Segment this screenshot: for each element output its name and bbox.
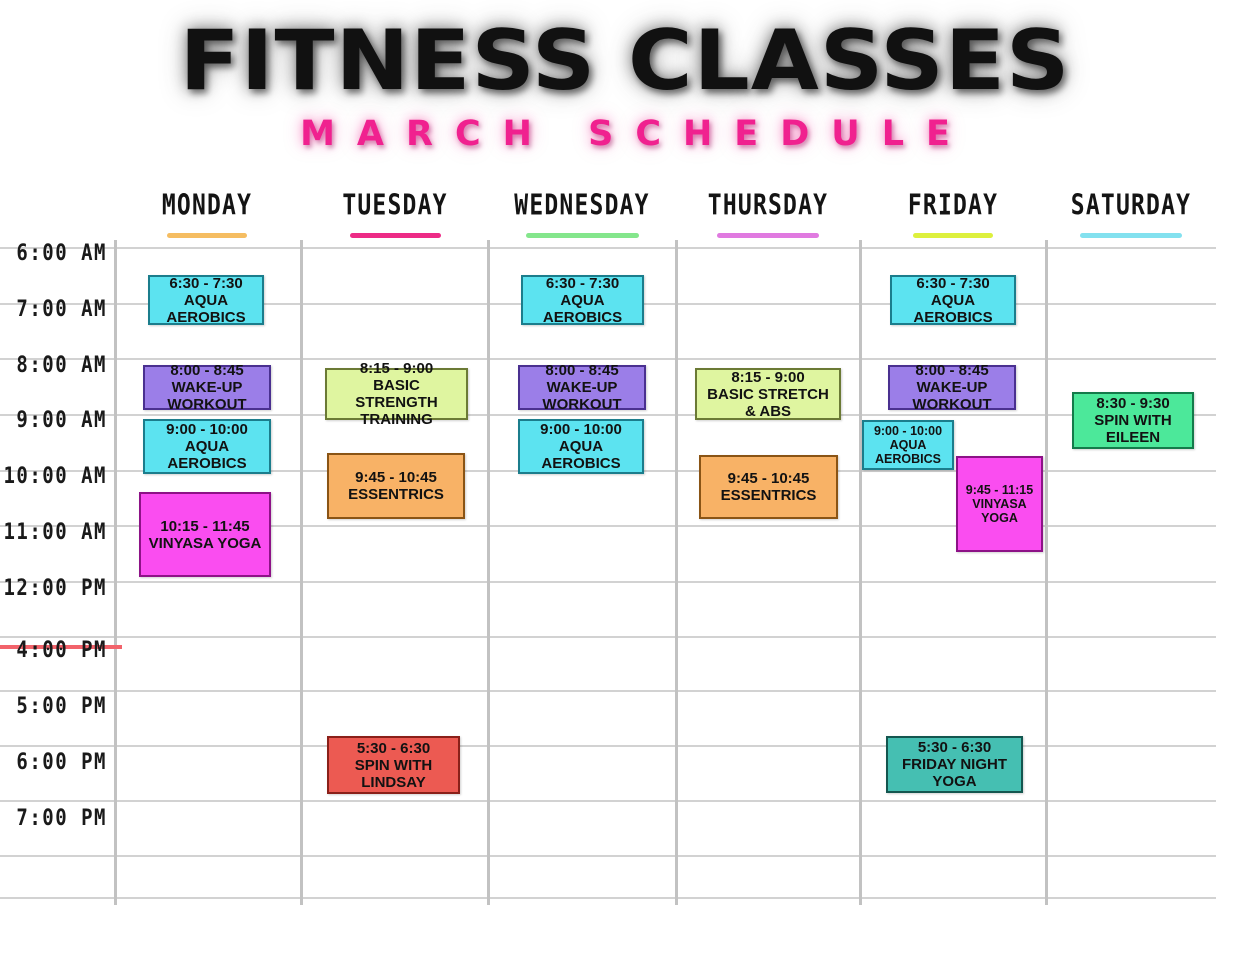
class-block[interactable]: 9:45 - 11:15VINYASA YOGA bbox=[956, 456, 1043, 552]
class-block[interactable]: 8:15 - 9:00BASIC STRENGTH TRAINING bbox=[325, 368, 468, 420]
class-time: 6:30 - 7:30 bbox=[169, 275, 242, 292]
class-block[interactable]: 8:00 - 8:45WAKE-UP WORKOUT bbox=[143, 365, 271, 410]
class-time: 9:00 - 10:00 bbox=[540, 421, 622, 438]
class-block[interactable]: 5:30 - 6:30SPIN WITH LINDSAY bbox=[327, 736, 460, 794]
grid-hline bbox=[0, 358, 1216, 360]
class-time: 8:30 - 9:30 bbox=[1096, 395, 1169, 412]
time-label: 12:00 PM bbox=[3, 575, 107, 601]
class-name: BASIC STRETCH & ABS bbox=[700, 386, 836, 420]
grid-vline bbox=[487, 240, 490, 905]
class-block[interactable]: 9:00 - 10:00AQUA AEROBICS bbox=[143, 419, 271, 474]
class-name: ESSENTRICS bbox=[348, 486, 444, 503]
class-time: 6:30 - 7:30 bbox=[546, 275, 619, 292]
time-label: 9:00 AM bbox=[3, 407, 107, 433]
grid-hline bbox=[0, 581, 1216, 583]
grid-hline bbox=[0, 414, 1216, 416]
class-name: VINYASA YOGA bbox=[961, 497, 1038, 525]
grid-hline bbox=[0, 855, 1216, 857]
class-block[interactable]: 10:15 - 11:45VINYASA YOGA bbox=[139, 492, 271, 577]
class-name: SPIN WITH LINDSAY bbox=[332, 757, 455, 791]
class-name: AQUA AEROBICS bbox=[526, 292, 639, 326]
class-block[interactable]: 9:45 - 10:45ESSENTRICS bbox=[699, 455, 838, 519]
class-name: AQUA AEROBICS bbox=[523, 438, 639, 472]
schedule-grid bbox=[0, 0, 1250, 966]
class-block[interactable]: 9:00 - 10:00AQUA AEROBICS bbox=[518, 419, 644, 474]
class-time: 9:45 - 10:45 bbox=[355, 469, 437, 486]
class-name: AQUA AEROBICS bbox=[867, 438, 949, 466]
class-name: WAKE-UP WORKOUT bbox=[148, 379, 266, 413]
class-name: AQUA AEROBICS bbox=[895, 292, 1011, 326]
grid-hline bbox=[0, 636, 1216, 638]
grid-hline bbox=[0, 897, 1216, 899]
grid-vline bbox=[675, 240, 678, 905]
grid-hline bbox=[0, 690, 1216, 692]
class-block[interactable]: 8:00 - 8:45WAKE-UP WORKOUT bbox=[518, 365, 646, 410]
class-block[interactable]: 8:15 - 9:00BASIC STRETCH & ABS bbox=[695, 368, 841, 420]
grid-vline bbox=[114, 240, 117, 905]
class-name: VINYASA YOGA bbox=[149, 535, 262, 552]
class-time: 8:15 - 9:00 bbox=[731, 369, 804, 386]
time-label: 11:00 AM bbox=[3, 519, 107, 545]
class-time: 5:30 - 6:30 bbox=[357, 740, 430, 757]
class-name: SPIN WITH EILEEN bbox=[1077, 412, 1189, 446]
grid-hline bbox=[0, 745, 1216, 747]
grid-vline bbox=[859, 240, 862, 905]
time-label: 4:00 PM bbox=[3, 637, 107, 663]
class-time: 10:15 - 11:45 bbox=[160, 518, 249, 535]
class-block[interactable]: 8:00 - 8:45WAKE-UP WORKOUT bbox=[888, 365, 1016, 410]
grid-vline bbox=[1045, 240, 1048, 905]
class-name: AQUA AEROBICS bbox=[148, 438, 266, 472]
class-name: WAKE-UP WORKOUT bbox=[893, 379, 1011, 413]
class-block[interactable]: 9:00 - 10:00AQUA AEROBICS bbox=[862, 420, 954, 470]
class-block[interactable]: 6:30 - 7:30AQUA AEROBICS bbox=[148, 275, 264, 325]
time-label: 8:00 AM bbox=[3, 352, 107, 378]
class-name: ESSENTRICS bbox=[721, 487, 817, 504]
time-label: 5:00 PM bbox=[3, 693, 107, 719]
class-name: WAKE-UP WORKOUT bbox=[523, 379, 641, 413]
class-name: BASIC STRENGTH TRAINING bbox=[330, 377, 463, 428]
class-time: 6:30 - 7:30 bbox=[916, 275, 989, 292]
class-time: 9:45 - 10:45 bbox=[728, 470, 810, 487]
class-block[interactable]: 8:30 - 9:30SPIN WITH EILEEN bbox=[1072, 392, 1194, 449]
class-name: FRIDAY NIGHT YOGA bbox=[891, 756, 1018, 790]
class-time: 8:00 - 8:45 bbox=[545, 362, 618, 379]
class-time: 8:15 - 9:00 bbox=[360, 360, 433, 377]
class-time: 8:00 - 8:45 bbox=[170, 362, 243, 379]
grid-hline bbox=[0, 800, 1216, 802]
time-label: 10:00 AM bbox=[3, 463, 107, 489]
class-time: 9:45 - 11:15 bbox=[966, 483, 1033, 497]
time-label: 7:00 AM bbox=[3, 296, 107, 322]
class-block[interactable]: 6:30 - 7:30AQUA AEROBICS bbox=[521, 275, 644, 325]
class-block[interactable]: 6:30 - 7:30AQUA AEROBICS bbox=[890, 275, 1016, 325]
time-label: 7:00 PM bbox=[3, 805, 107, 831]
class-time: 5:30 - 6:30 bbox=[918, 739, 991, 756]
fitness-schedule-page: FITNESS CLASSES MARCH SCHEDULE MONDAYTUE… bbox=[0, 0, 1250, 966]
grid-vline bbox=[300, 240, 303, 905]
time-label: 6:00 AM bbox=[3, 240, 107, 266]
class-time: 9:00 - 10:00 bbox=[166, 421, 248, 438]
class-block[interactable]: 9:45 - 10:45ESSENTRICS bbox=[327, 453, 465, 519]
grid-hline bbox=[0, 247, 1216, 249]
class-block[interactable]: 5:30 - 6:30FRIDAY NIGHT YOGA bbox=[886, 736, 1023, 793]
class-time: 8:00 - 8:45 bbox=[915, 362, 988, 379]
class-name: AQUA AEROBICS bbox=[153, 292, 259, 326]
time-label: 6:00 PM bbox=[3, 749, 107, 775]
class-time: 9:00 - 10:00 bbox=[874, 424, 942, 438]
